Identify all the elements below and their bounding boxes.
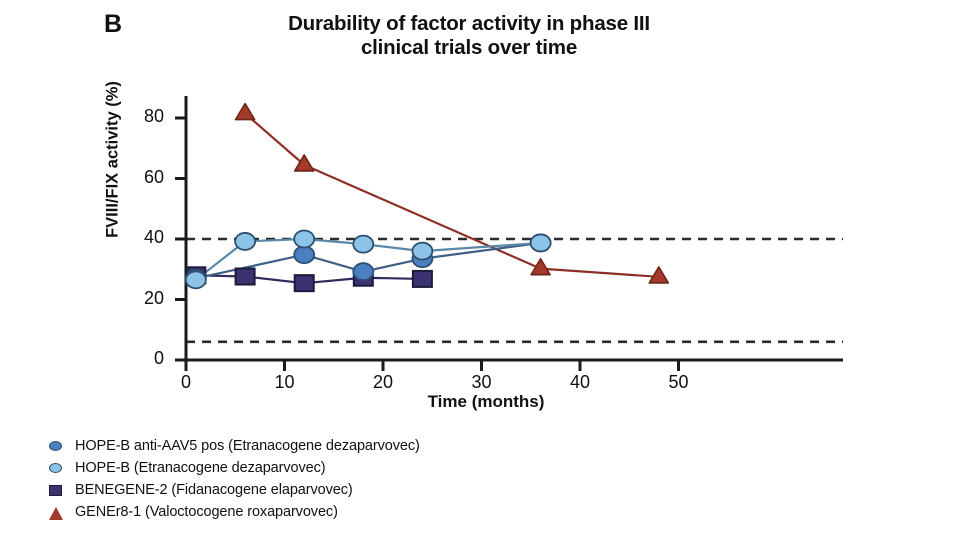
legend-item[interactable]: BENEGENE-2 (Fidanacogene elaparvovec) [46, 480, 686, 500]
data-point-triangle[interactable] [649, 267, 668, 283]
data-point-circle[interactable] [235, 233, 255, 250]
legend-circle-icon [49, 441, 62, 451]
legend-item-label: BENEGENE-2 (Fidanacogene elaparvovec) [75, 482, 353, 498]
y-tick-label: 0 [124, 348, 164, 369]
y-tick-label: 60 [124, 167, 164, 188]
x-tick-label: 40 [560, 372, 600, 393]
legend-marker [46, 460, 68, 476]
data-point-square[interactable] [236, 269, 255, 285]
x-tick-label: 30 [462, 372, 502, 393]
data-point-circle[interactable] [412, 243, 432, 260]
data-point-circle[interactable] [294, 246, 314, 263]
legend-marker [46, 504, 68, 520]
x-tick-label: 50 [659, 372, 699, 393]
data-point-circle[interactable] [353, 263, 373, 280]
legend-item[interactable]: HOPE-B (Etranacogene dezaparvovec) [46, 458, 686, 478]
legend-item-label: HOPE-B (Etranacogene dezaparvovec) [75, 460, 325, 476]
data-point-triangle[interactable] [295, 155, 314, 171]
x-tick-label: 20 [363, 372, 403, 393]
x-tick-label: 10 [265, 372, 305, 393]
y-axis-title: FVIII/FIX activity (%) [104, 40, 123, 280]
legend-marker [46, 482, 68, 498]
legend-item-label: HOPE-B anti-AAV5 pos (Etranacogene dezap… [75, 438, 420, 454]
legend-circle-icon [49, 463, 62, 473]
chart-legend: HOPE-B anti-AAV5 pos (Etranacogene dezap… [46, 436, 686, 524]
figure-panel-b: B Durability of factor activity in phase… [0, 0, 959, 540]
x-tick-label: 0 [166, 372, 206, 393]
x-axis-title: Time (months) [306, 392, 666, 412]
legend-square-icon [49, 485, 62, 496]
legend-item[interactable]: HOPE-B anti-AAV5 pos (Etranacogene dezap… [46, 436, 686, 456]
y-tick-label: 40 [124, 227, 164, 248]
legend-item[interactable]: GENEr8-1 (Valoctocogene roxaparvovec) [46, 502, 686, 522]
legend-marker [46, 438, 68, 454]
data-point-circle[interactable] [531, 234, 551, 251]
data-point-circle[interactable] [294, 231, 314, 248]
y-tick-label: 20 [124, 288, 164, 309]
data-point-circle[interactable] [186, 271, 206, 288]
data-point-square[interactable] [295, 275, 314, 291]
data-point-circle[interactable] [353, 236, 373, 253]
data-point-triangle[interactable] [236, 104, 255, 120]
data-point-square[interactable] [413, 271, 432, 287]
legend-item-label: GENEr8-1 (Valoctocogene roxaparvovec) [75, 504, 338, 520]
legend-triangle-icon [49, 507, 63, 520]
plot-area: FVIII/FIX activity (%) Time (months) 020… [0, 0, 959, 440]
y-tick-label: 80 [124, 106, 164, 127]
